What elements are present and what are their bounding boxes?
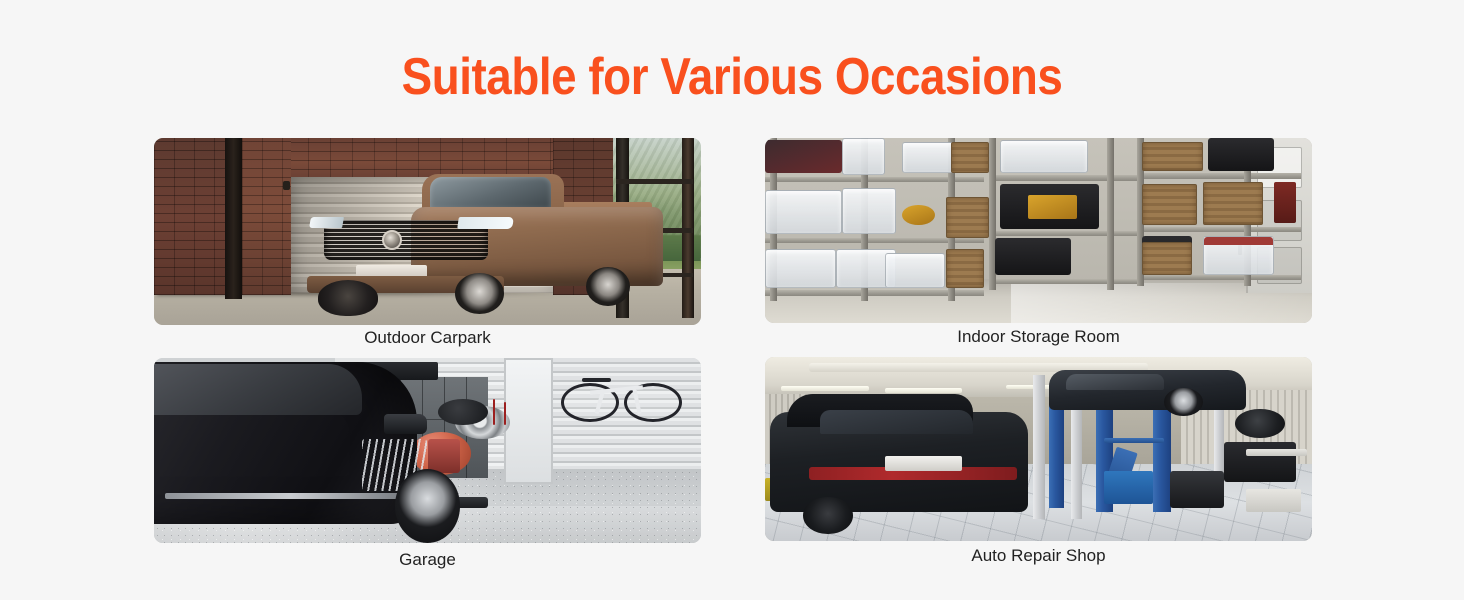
indoor-storage-room-image [765, 138, 1312, 323]
wall-bicycle [559, 369, 690, 432]
outdoor-carpark-image [154, 138, 701, 325]
occasion-card-garage[interactable]: Garage [154, 358, 701, 543]
occasion-card-outdoor-carpark[interactable]: Outdoor Carpark [154, 138, 701, 325]
occasion-caption-auto-repair-shop: Auto Repair Shop [765, 546, 1312, 566]
garage-image [154, 358, 701, 543]
occasion-card-auto-repair-shop[interactable]: Auto Repair Shop [765, 357, 1312, 541]
occasion-card-indoor-storage-room[interactable]: Indoor Storage Room [765, 138, 1312, 323]
page-title: Suitable for Various Occasions [88, 48, 1376, 106]
occasion-caption-garage: Garage [154, 550, 701, 570]
occasions-section: Suitable for Various Occasions [0, 0, 1464, 600]
occasion-caption-indoor-storage-room: Indoor Storage Room [765, 327, 1312, 347]
occasion-caption-outdoor-carpark: Outdoor Carpark [154, 328, 701, 348]
auto-repair-shop-image [765, 357, 1312, 541]
